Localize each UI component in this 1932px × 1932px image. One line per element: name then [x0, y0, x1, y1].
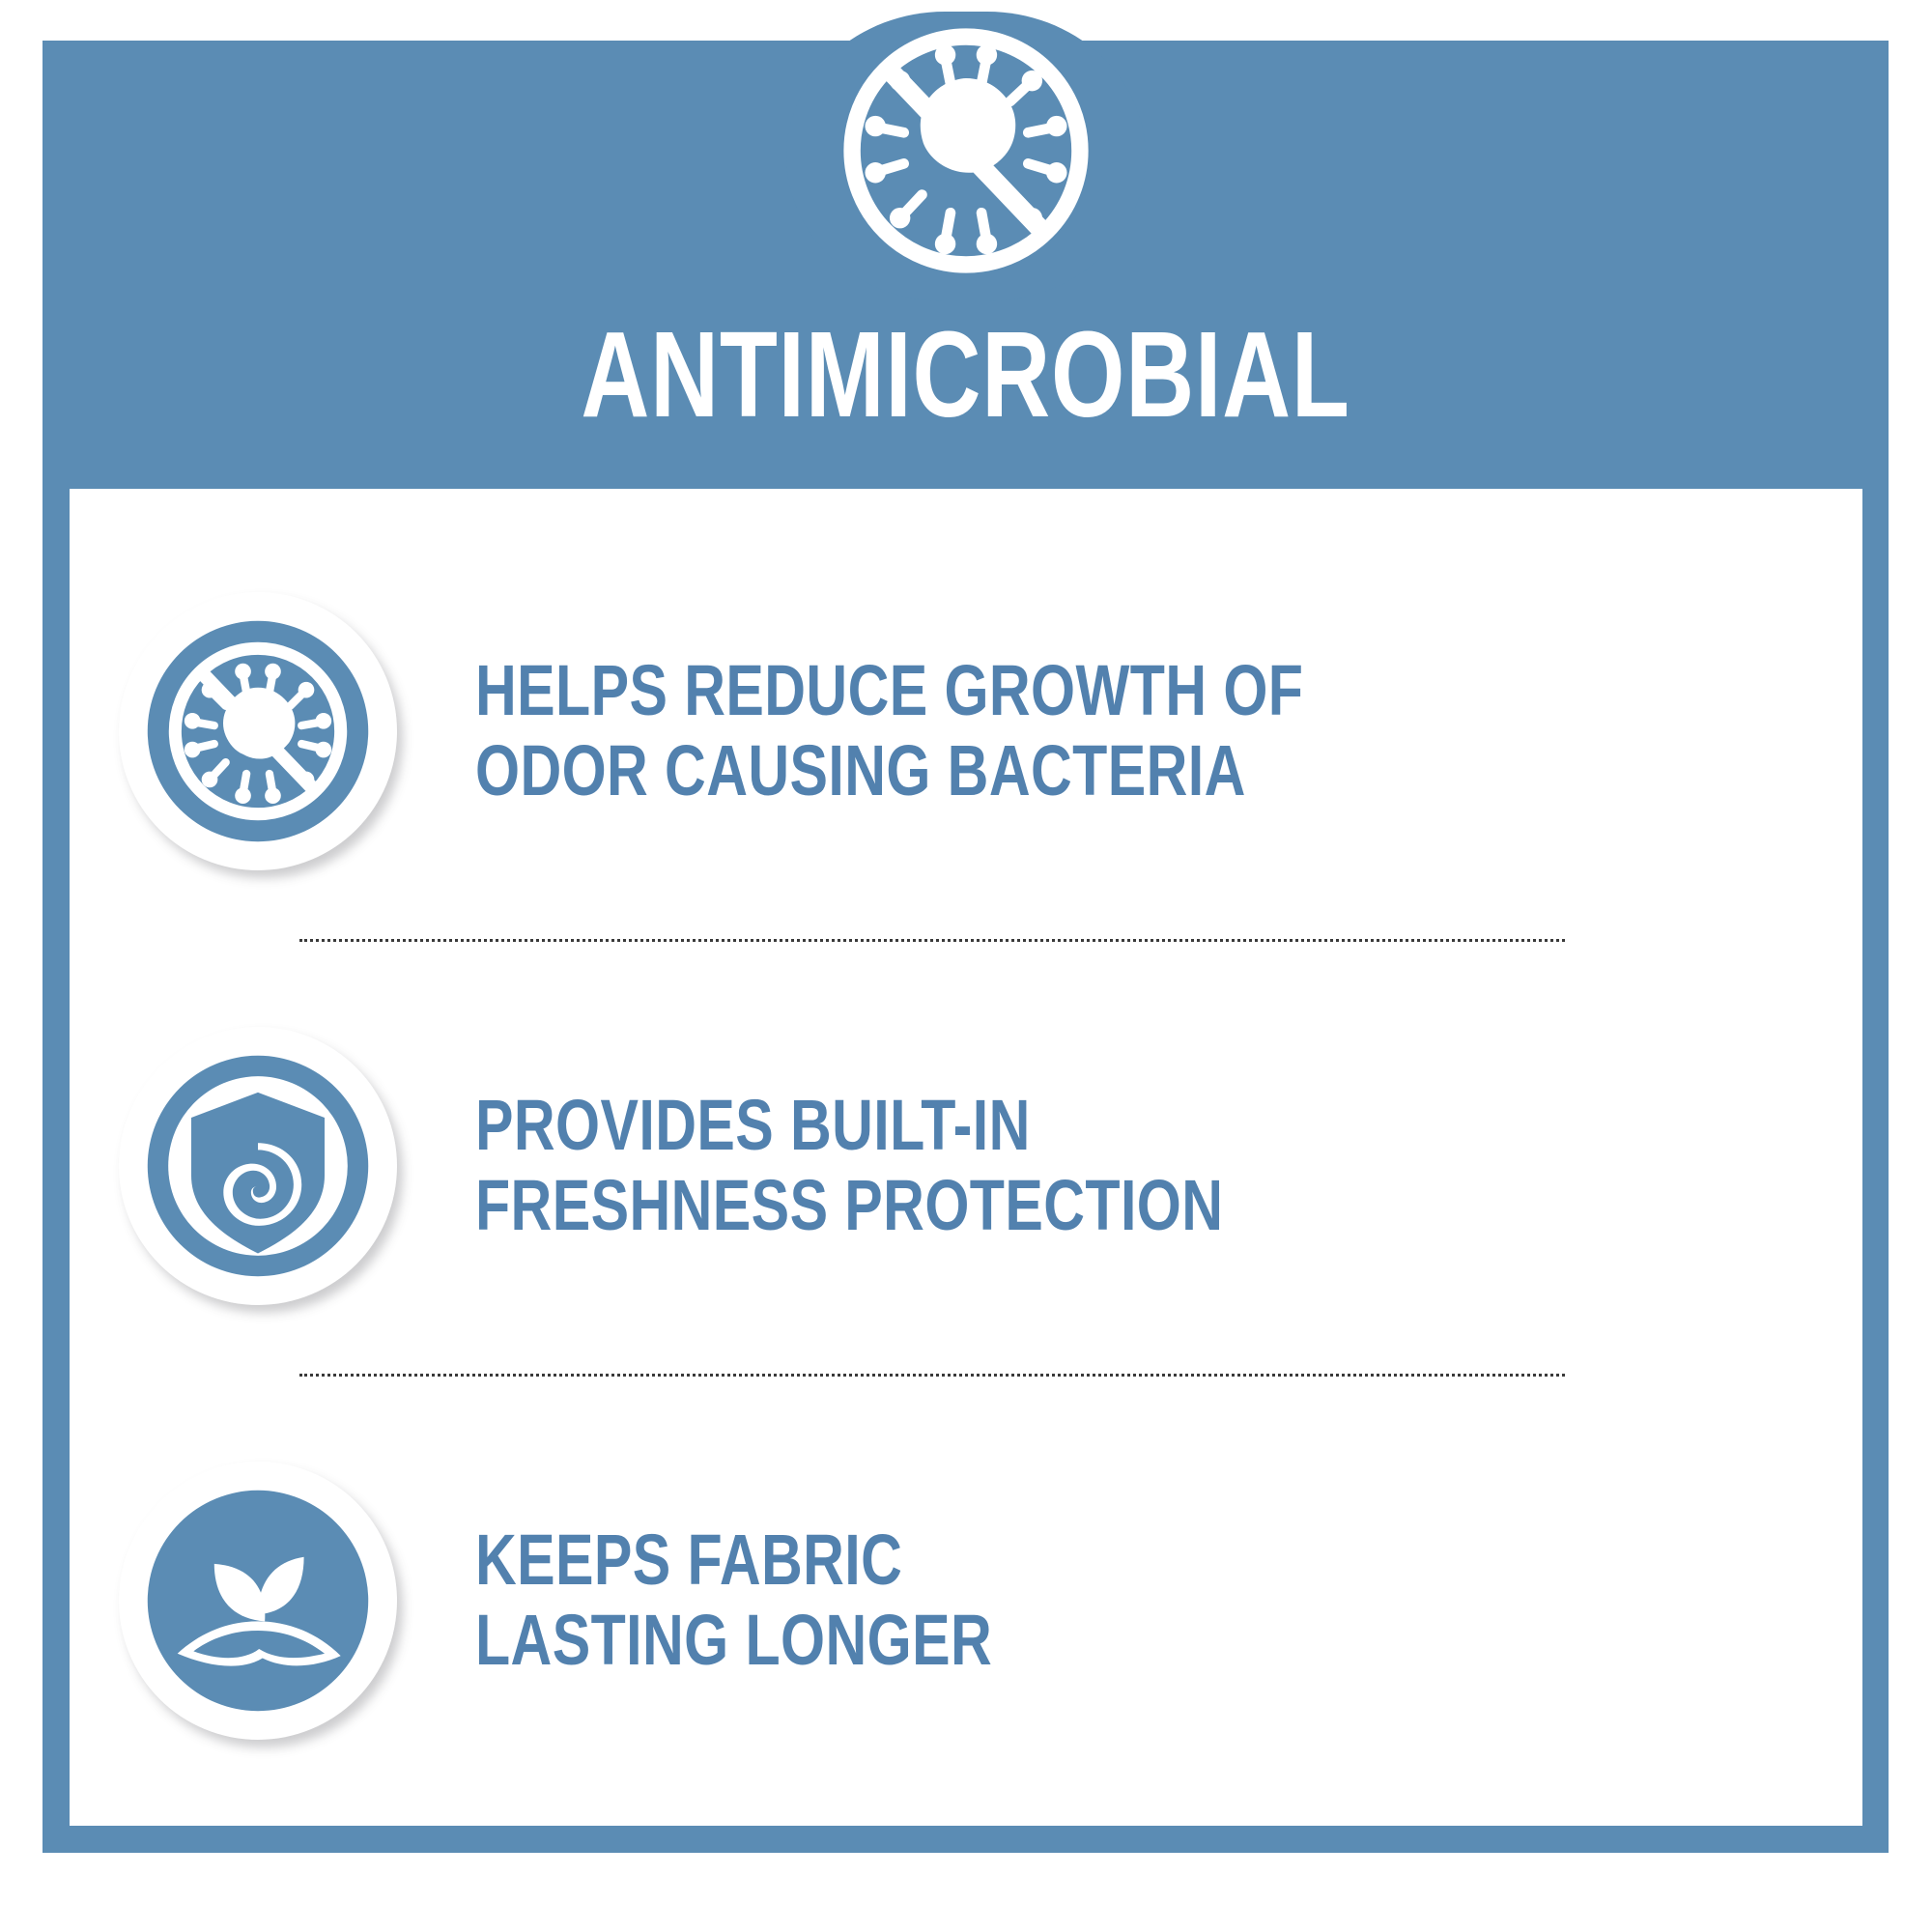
- feature-text: PROVIDES BUILT-IN FRESHNESS PROTECTION: [446, 1086, 1862, 1246]
- feature-text-line1: PROVIDES BUILT-IN: [475, 1086, 1585, 1166]
- feature-list: HELPS REDUCE GROWTH OF ODOR CAUSING BACT…: [70, 489, 1862, 1826]
- feature-icon-cell: [70, 1027, 446, 1305]
- header-band: ANTIMICROBIAL: [43, 41, 1889, 489]
- feature-text-line2: ODOR CAUSING BACTERIA: [475, 731, 1585, 811]
- feature-text-line1: KEEPS FABRIC: [475, 1520, 1585, 1601]
- no-virus-icon: [837, 21, 1095, 280]
- row-divider: [299, 939, 1565, 942]
- feature-text: KEEPS FABRIC LASTING LONGER: [446, 1520, 1862, 1681]
- infographic-page: ANTIMICROBIAL: [0, 0, 1932, 1932]
- feature-row: KEEPS FABRIC LASTING LONGER: [70, 1393, 1862, 1808]
- feature-text-line1: HELPS REDUCE GROWTH OF: [475, 651, 1585, 731]
- feature-text: HELPS REDUCE GROWTH OF ODOR CAUSING BACT…: [446, 651, 1862, 811]
- feature-row: HELPS REDUCE GROWTH OF ODOR CAUSING BACT…: [70, 524, 1862, 939]
- shield-swirl-icon: [119, 1027, 397, 1305]
- no-virus-icon: [119, 592, 397, 870]
- feature-row: PROVIDES BUILT-IN FRESHNESS PROTECTION: [70, 958, 1862, 1374]
- content-card: HELPS REDUCE GROWTH OF ODOR CAUSING BACT…: [70, 489, 1862, 1826]
- page-title: ANTIMICROBIAL: [245, 314, 1686, 436]
- feature-text-line2: FRESHNESS PROTECTION: [475, 1166, 1585, 1246]
- feature-text-line2: LASTING LONGER: [475, 1601, 1585, 1681]
- leaf-sprout-icon: [119, 1462, 397, 1740]
- feature-icon-cell: [70, 592, 446, 870]
- row-divider: [299, 1374, 1565, 1377]
- feature-icon-cell: [70, 1462, 446, 1740]
